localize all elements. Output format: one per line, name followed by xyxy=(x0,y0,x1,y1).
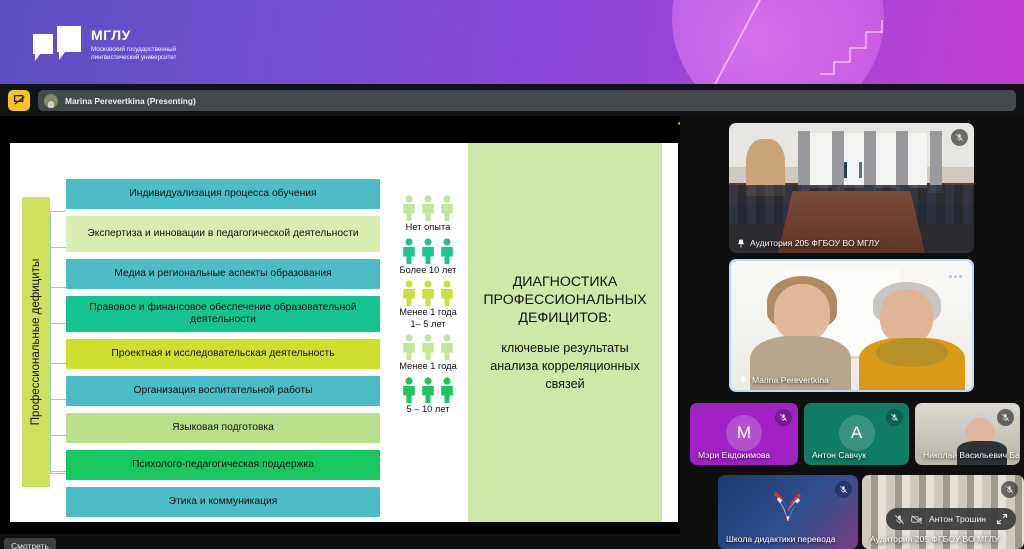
participant-name-row: Аудитория 205 ФГБОУ ВО МГЛУ xyxy=(737,238,879,248)
participant-name-row: Школа дидактики перевода xyxy=(726,534,836,544)
experience-group: Менее 1 года 1– 5 лет xyxy=(388,280,468,330)
video-feed xyxy=(729,123,974,253)
presenter-pill[interactable]: Marina Perevertkina (Presenting) xyxy=(38,90,1016,111)
participant-name: Мэри Евдокимова xyxy=(698,450,770,460)
experience-group-label: 5 – 10 лет xyxy=(388,404,468,416)
hover-participant-name: Антон Трошин xyxy=(929,514,986,524)
mic-off-icon xyxy=(1005,485,1014,494)
person-icon xyxy=(439,280,455,306)
mic-off-icon[interactable] xyxy=(894,514,905,525)
mic-off-icon xyxy=(779,413,788,422)
stop-presenting-icon xyxy=(13,94,26,107)
watch-button[interactable]: Смотреть xyxy=(4,538,56,549)
person-icon xyxy=(420,238,436,264)
deficit-bar-label: Проектная и исследовательская деятельнос… xyxy=(111,348,334,361)
experience-group: 5 – 10 лет xyxy=(388,377,468,416)
experience-group-label: Менее 1 года xyxy=(388,361,468,373)
person-icon xyxy=(420,280,436,306)
participant-name: Marina Perevertkina xyxy=(752,375,829,385)
avatar: A xyxy=(839,415,875,451)
presentation-stage[interactable]: Профессиональные дефициты Индивидуализац… xyxy=(0,116,680,534)
participant-tile[interactable]: A Антон Савчук xyxy=(804,403,909,465)
participant-name-row: Аудитория 205 ФГБОУ ВО МГЛУ xyxy=(870,534,999,544)
participant-hover-controls[interactable]: Антон Трошин xyxy=(886,508,1016,530)
deficit-bar: Медиа и региональные аспекты образования xyxy=(66,259,380,289)
avatar-initial: M xyxy=(737,423,751,443)
participant-tile[interactable]: M Мэри Евдокимова xyxy=(690,403,798,465)
vertical-axis-label-text: Профессиональные дефициты xyxy=(30,259,42,425)
deficit-bar: Языковая подготовка xyxy=(66,413,380,443)
slide-subtitle: ключевые результаты анализа корреляционн… xyxy=(476,339,654,393)
experience-group: Менее 1 года xyxy=(388,334,468,373)
banner-steps-decoration xyxy=(820,18,900,78)
mic-off-badge xyxy=(951,129,968,146)
slide-content: Профессиональные дефициты Индивидуализац… xyxy=(10,143,678,522)
mic-off-icon xyxy=(1001,413,1010,422)
deficit-bar: Правовое и финансовое обеспечение образо… xyxy=(66,296,380,332)
mic-off-badge xyxy=(835,481,852,498)
participant-tile[interactable]: Школа дидактики перевода xyxy=(718,475,858,549)
mic-off-icon xyxy=(890,413,899,422)
participant-name: Николай Васильевич Бар... xyxy=(923,450,1020,460)
deficit-bar: Экспертиза и инновации в педагогической … xyxy=(66,216,380,252)
person-icon xyxy=(439,238,455,264)
deficit-bar: Организация воспитательной работы xyxy=(66,376,380,406)
mic-off-badge xyxy=(997,409,1014,426)
deficit-bar: Проектная и исследовательская деятельнос… xyxy=(66,339,380,369)
pin-icon xyxy=(737,239,745,248)
mic-off-badge xyxy=(886,409,903,426)
deficit-bar-label: Этика и коммуникация xyxy=(169,496,278,509)
person-icon xyxy=(420,334,436,360)
participant-name-row: Николай Васильевич Бар... xyxy=(923,450,1020,460)
person-icon xyxy=(401,280,417,306)
camera-off-icon[interactable] xyxy=(911,514,923,525)
speech-bubbles-icon xyxy=(33,26,81,62)
person-icon-row xyxy=(388,238,468,264)
person-icon xyxy=(420,195,436,221)
person-icon xyxy=(401,377,417,403)
deficit-bar-label: Организация воспитательной работы xyxy=(134,385,313,398)
deficit-bar-label: Языковая подготовка xyxy=(172,422,274,435)
mic-off-badge xyxy=(775,409,792,426)
participant-tile[interactable]: Николай Васильевич Бар... xyxy=(915,403,1020,465)
participant-tile[interactable]: Аудитория 205 ФГБОУ ВО МГЛУ xyxy=(729,123,974,253)
avatar-initial: A xyxy=(851,423,862,443)
deficit-bar-label: Психолого-педагогическая поддержка xyxy=(132,459,314,472)
avatar xyxy=(44,94,58,108)
person-icon xyxy=(401,334,417,360)
participant-name: Аудитория 205 ФГБОУ ВО МГЛУ xyxy=(750,238,879,248)
participant-name: Аудитория 205 ФГБОУ ВО МГЛУ xyxy=(870,534,999,544)
person-icon-row xyxy=(388,280,468,306)
experience-group: Более 10 лет xyxy=(388,238,468,277)
meeting-screen: МГЛУ Московский государственный лингвист… xyxy=(0,0,1024,549)
video-feed xyxy=(731,261,972,390)
participant-rail: Аудитория 205 ФГБОУ ВО МГЛУ Marina Perev… xyxy=(680,116,1024,549)
deficit-bar: Индивидуализация процесса обучения xyxy=(66,179,380,209)
experience-group-label: Менее 1 года 1– 5 лет xyxy=(388,307,468,330)
kebab-menu-icon[interactable] xyxy=(946,269,964,283)
participant-name: Школа дидактики перевода xyxy=(726,534,836,544)
deficit-bar: Психолого-педагогическая поддержка xyxy=(66,450,380,480)
pin-icon xyxy=(739,376,747,385)
experience-group-label: Более 10 лет xyxy=(388,265,468,277)
deficit-bars-list: Индивидуализация процесса обученияЭкспер… xyxy=(66,179,386,524)
person-icon xyxy=(439,334,455,360)
vertical-axis-label: Профессиональные дефициты xyxy=(22,197,50,487)
mic-off-badge xyxy=(1001,481,1018,498)
participant-name-row: Marina Perevertkina xyxy=(739,375,829,385)
person-icon xyxy=(420,377,436,403)
slide-title: ДИАГНОСТИКА ПРОФЕССИОНАЛЬНЫХ ДЕФИЦИТОВ: xyxy=(476,273,654,327)
person-icon-row xyxy=(388,195,468,221)
deficit-bar: Этика и коммуникация xyxy=(66,487,380,517)
experience-group-label: Нет опыта xyxy=(388,222,468,234)
experience-legend: Нет опытаБолее 10 летМенее 1 года 1– 5 л… xyxy=(388,195,468,419)
deficit-bar-label: Правовое и финансовое обеспечение образо… xyxy=(76,302,370,327)
expand-icon[interactable] xyxy=(996,513,1008,525)
participant-name: Антон Савчук xyxy=(812,450,866,460)
logo-title: МГЛУ xyxy=(91,27,176,43)
mglu-logo: МГЛУ Московский государственный лингвист… xyxy=(33,26,176,62)
person-icon-row xyxy=(388,377,468,403)
slide-title-panel: ДИАГНОСТИКА ПРОФЕССИОНАЛЬНЫХ ДЕФИЦИТОВ: … xyxy=(468,143,662,522)
logo-subtitle: Московский государственный лингвистическ… xyxy=(91,46,176,62)
school-logo-icon xyxy=(771,491,805,521)
connector-lines xyxy=(50,197,66,487)
person-icon xyxy=(401,195,417,221)
deficit-bar-label: Экспертиза и инновации в педагогической … xyxy=(87,228,358,241)
mic-off-icon xyxy=(955,133,964,142)
person-icon-row xyxy=(388,334,468,360)
deficit-bar-label: Индивидуализация процесса обучения xyxy=(129,188,316,201)
deficit-bar-label: Медиа и региональные аспекты образования xyxy=(114,268,331,281)
presenter-name: Marina Perevertkina (Presenting) xyxy=(65,96,196,106)
participant-name-row: Антон Савчук xyxy=(812,450,866,460)
mic-off-icon xyxy=(839,485,848,494)
stop-presenting-button[interactable] xyxy=(8,90,30,111)
experience-group: Нет опыта xyxy=(388,195,468,234)
avatar: M xyxy=(726,415,762,451)
person-icon xyxy=(439,377,455,403)
participant-tile[interactable]: Marina Perevertkina xyxy=(729,259,974,392)
person-icon xyxy=(401,238,417,264)
mglu-banner: МГЛУ Московский государственный лингвист… xyxy=(0,0,1024,84)
person-icon xyxy=(439,195,455,221)
participant-name-row: Мэри Евдокимова xyxy=(698,450,770,460)
